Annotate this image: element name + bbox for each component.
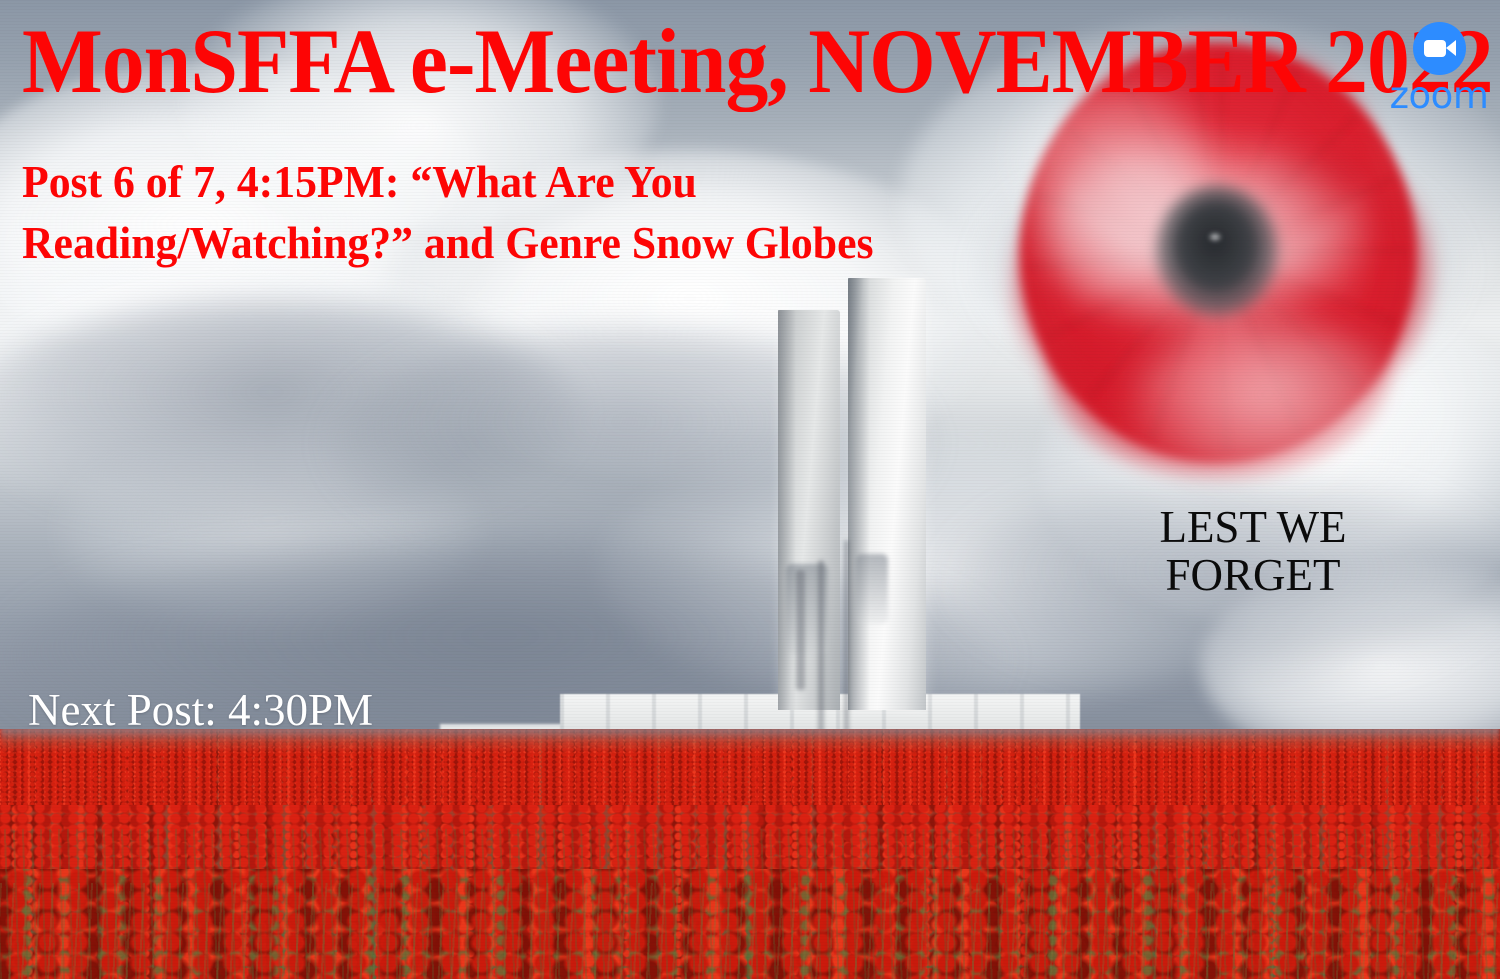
field-stems-overlay — [0, 883, 1500, 979]
slide-title: MonSFFA e-Meeting, NOVEMBER 2022 — [22, 16, 1493, 106]
remembrance-caption-line-2: FORGET — [1128, 552, 1378, 600]
cloud-shadow — [0, 300, 580, 530]
zoom-wordmark: zoom — [1389, 77, 1489, 114]
poppy-center-highlight — [1208, 232, 1222, 242]
camera-lens-shape — [1446, 40, 1456, 56]
cloud-shape — [0, 250, 500, 510]
next-post-time: Next Post: 4:30PM — [28, 688, 373, 733]
remembrance-caption: LEST WE FORGET — [1128, 504, 1378, 599]
camera-body-shape — [1424, 40, 1446, 57]
stone-weathering-streak — [796, 570, 805, 690]
monument-sculpture-detail — [856, 554, 888, 624]
poppy-center-inner — [1176, 204, 1256, 290]
video-camera-icon — [1413, 22, 1466, 75]
slide-subtitle: Post 6 of 7, 4:15PM: “What Are You Readi… — [22, 152, 982, 273]
cloud-shape — [60, 430, 480, 630]
poppy-field — [0, 729, 1500, 979]
cloud-veil-overlay — [1128, 318, 1408, 488]
remembrance-caption-line-1: LEST WE — [1128, 504, 1378, 552]
monument-pylon-right — [848, 278, 926, 710]
zoom-logo[interactable]: zoom — [1389, 22, 1489, 114]
vimy-memorial-monument — [560, 270, 1080, 770]
stone-weathering-streak — [818, 560, 824, 750]
meeting-announcement-slide: MonSFFA e-Meeting, NOVEMBER 2022 Post 6 … — [0, 0, 1500, 979]
